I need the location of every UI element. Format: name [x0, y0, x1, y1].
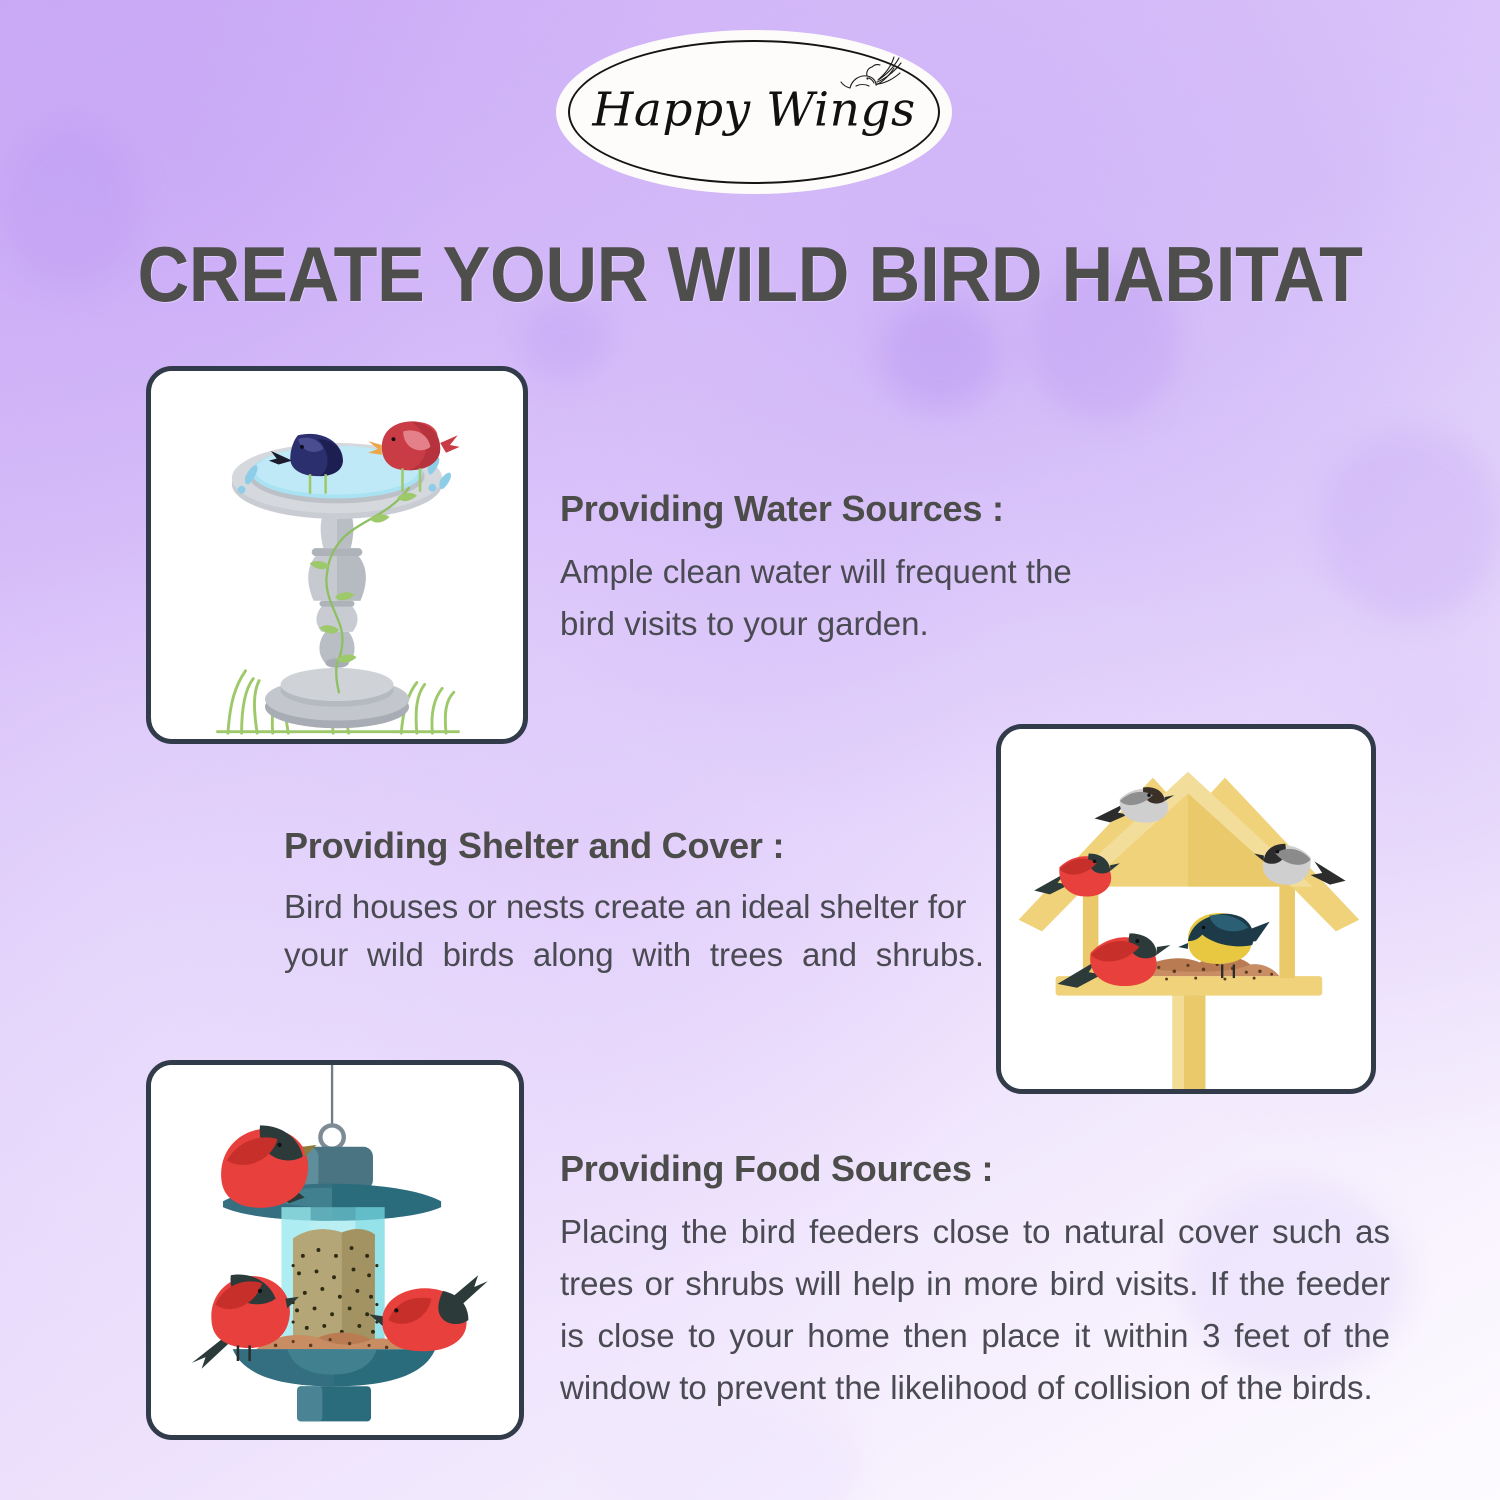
bird-bath-image-card — [146, 366, 528, 744]
shelter-section-body-line2: your wild birds along with trees and shr… — [284, 931, 984, 979]
infographic-poster: Happy Wings CREATE YOUR WILD BIRD HABITA… — [0, 0, 1500, 1500]
food-section-heading: Providing Food Sources : — [560, 1148, 1390, 1190]
hanging-bird-feeder-illustration — [151, 1065, 519, 1435]
shelter-section-body-line1: Bird houses or nests create an ideal she… — [284, 883, 984, 931]
page-title: CREATE YOUR WILD BIRD HABITAT — [60, 226, 1440, 322]
water-section-body: Ample clean water will frequent the bird… — [560, 546, 1080, 650]
bird-house-feeder-illustration — [1001, 729, 1371, 1089]
water-section-heading: Providing Water Sources : — [560, 488, 1080, 530]
watercolor-blotch — [1320, 430, 1500, 620]
hummingbird-icon — [836, 54, 910, 110]
brand-logo: Happy Wings — [556, 30, 952, 194]
food-section-body: Placing the bird feeders close to natura… — [560, 1206, 1390, 1414]
bird-house-image-card — [996, 724, 1376, 1094]
bird-bath-illustration — [151, 371, 523, 739]
shelter-section-heading: Providing Shelter and Cover : — [284, 825, 984, 867]
food-section-text: Providing Food Sources : Placing the bir… — [560, 1148, 1390, 1414]
watercolor-blotch — [600, 1400, 860, 1500]
water-section-text: Providing Water Sources : Ample clean wa… — [560, 488, 1080, 650]
shelter-section-text: Providing Shelter and Cover : Bird house… — [284, 825, 984, 979]
hanging-feeder-image-card — [146, 1060, 524, 1440]
